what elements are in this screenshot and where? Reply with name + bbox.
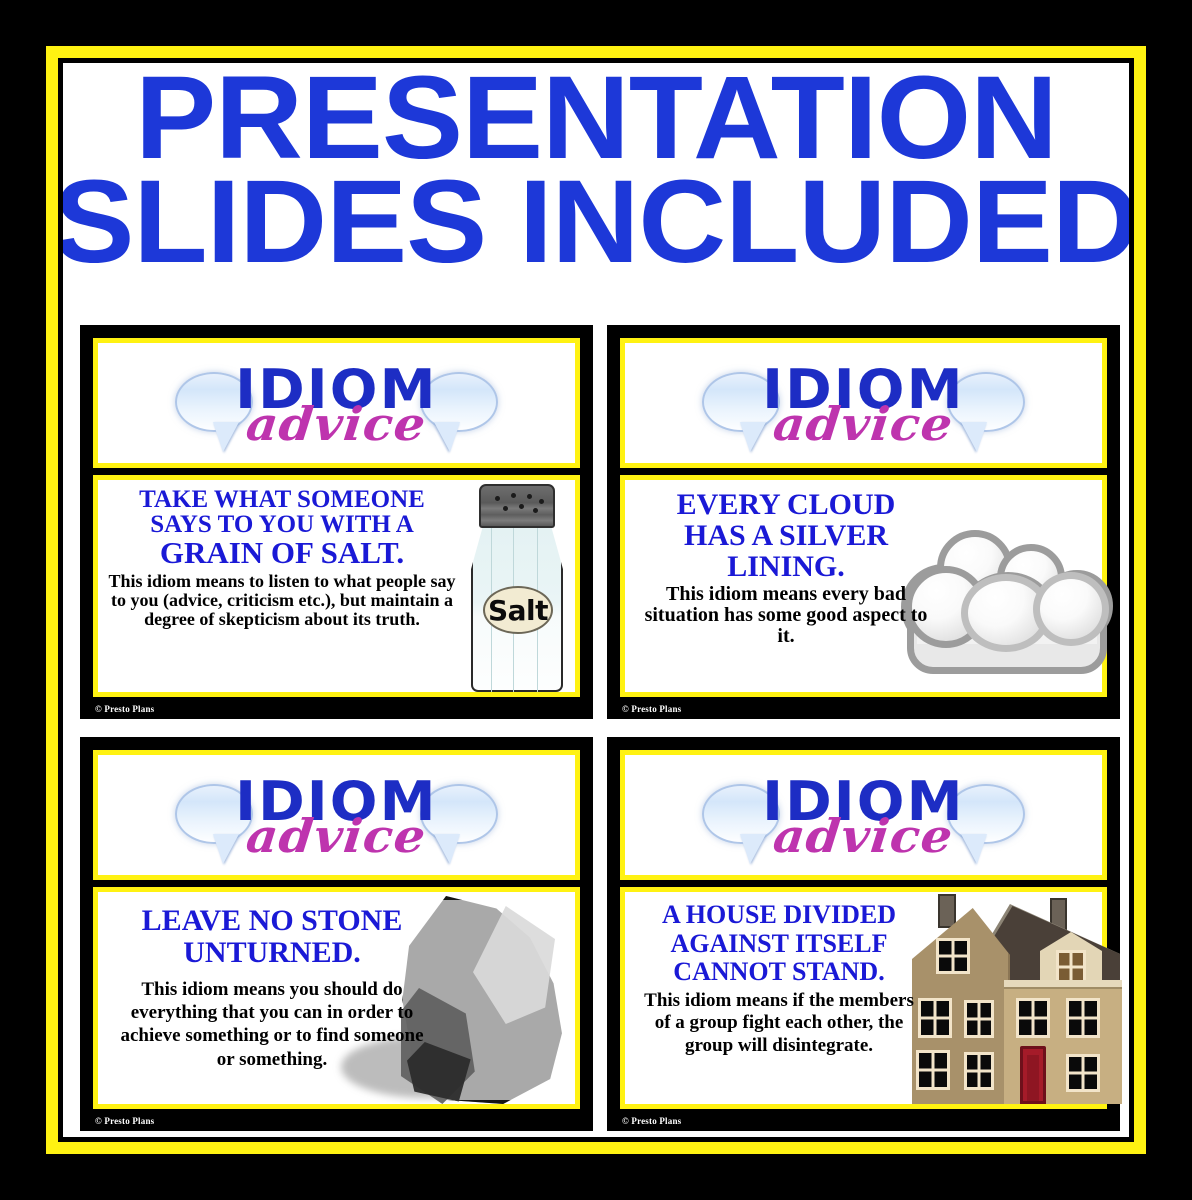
card-text-block: EVERY CLOUD HAS A SILVER LINING. This id… xyxy=(631,480,941,647)
card-body-inner: LEAVE NO STONE UNTURNED. This idiom mean… xyxy=(98,892,575,1104)
card-header-band: IDIOM advice xyxy=(620,750,1107,880)
copyright-notice: © Presto Plans xyxy=(95,704,154,714)
card-body-band: LEAVE NO STONE UNTURNED. This idiom mean… xyxy=(93,887,580,1109)
slide-card-house-divided[interactable]: IDIOM advice xyxy=(607,737,1120,1131)
page-title: PRESENTATION SLIDES INCLUDED xyxy=(63,63,1129,275)
card-header-band: IDIOM advice xyxy=(620,338,1107,468)
idiom-line-1: TAKE WHAT SOMEONE xyxy=(139,486,425,513)
logo-wordmark: IDIOM advice xyxy=(766,777,961,852)
idiom-phrase: EVERY CLOUD HAS A SILVER LINING. xyxy=(639,489,933,583)
idiom-meaning: This idiom means if the members of a gro… xyxy=(637,990,921,1057)
salt-label-text: Salt xyxy=(488,594,548,627)
logo-wordmark: IDIOM advice xyxy=(766,365,961,440)
idiom-phrase: LEAVE NO STONE UNTURNED. xyxy=(110,905,434,968)
card-body-inner: A HOUSE DIVIDED AGAINST ITSELF CANNOT ST… xyxy=(625,892,1102,1104)
card-header-inner: IDIOM advice xyxy=(625,343,1102,463)
salt-shaker-cap xyxy=(479,484,555,528)
slide-card-grain-of-salt[interactable]: IDIOM advice xyxy=(80,325,593,719)
card-body-band: EVERY CLOUD HAS A SILVER LINING. This id… xyxy=(620,475,1107,697)
white-page: PRESENTATION SLIDES INCLUDED xyxy=(63,63,1129,1137)
idiom-meaning: This idiom means every bad situation has… xyxy=(639,584,933,648)
headline-line-2: SLIDES INCLUDED xyxy=(63,171,1129,275)
card-header-band: IDIOM advice xyxy=(93,338,580,468)
slide-card-leave-no-stone-unturned[interactable]: IDIOM advice xyxy=(80,737,593,1131)
logo-advice-text: advice xyxy=(759,820,969,853)
logo-wordmark: IDIOM advice xyxy=(239,777,434,852)
logo-wordmark: IDIOM advice xyxy=(239,365,434,440)
logo-advice-text: advice xyxy=(232,820,442,853)
copyright-notice: © Presto Plans xyxy=(95,1116,154,1126)
copyright-notice: © Presto Plans xyxy=(622,704,681,714)
salt-shaker-icon: Salt xyxy=(465,482,569,694)
card-body-inner: EVERY CLOUD HAS A SILVER LINING. This id… xyxy=(625,480,1102,692)
logo-advice-text: advice xyxy=(759,408,969,441)
idiom-line-1: LEAVE NO STONE xyxy=(142,904,403,937)
card-body-band: A HOUSE DIVIDED AGAINST ITSELF CANNOT ST… xyxy=(620,887,1107,1109)
yellow-border-frame: PRESENTATION SLIDES INCLUDED xyxy=(46,46,1146,1154)
idiom-advice-logo: IDIOM advice xyxy=(98,343,575,463)
card-header-inner: IDIOM advice xyxy=(98,755,575,875)
card-body-band: TAKE WHAT SOMEONE SAYS TO YOU WITH A GRA… xyxy=(93,475,580,697)
logo-advice-text: advice xyxy=(232,408,442,441)
idiom-line-2: HAS A SILVER xyxy=(684,519,888,552)
idiom-line-1: EVERY CLOUD xyxy=(677,488,896,521)
idiom-line-2: UNTURNED. xyxy=(183,936,361,969)
idiom-phrase: A HOUSE DIVIDED AGAINST ITSELF CANNOT ST… xyxy=(637,901,921,987)
idiom-emphasis: GRAIN OF SALT. xyxy=(160,535,404,570)
card-header-band: IDIOM advice xyxy=(93,750,580,880)
idiom-line-3: CANNOT STAND. xyxy=(673,957,884,986)
idiom-line-2: AGAINST ITSELF xyxy=(671,929,888,958)
idiom-line-1: A HOUSE DIVIDED xyxy=(662,900,896,929)
idiom-meaning: This idiom means to listen to what peopl… xyxy=(106,572,458,629)
idiom-line-3: LINING. xyxy=(727,550,845,583)
slide-card-silver-lining[interactable]: IDIOM advice xyxy=(607,325,1120,719)
idiom-line-2: SAYS TO YOU WITH A xyxy=(150,511,414,538)
card-header-inner: IDIOM advice xyxy=(625,755,1102,875)
card-text-block: LEAVE NO STONE UNTURNED. This idiom mean… xyxy=(102,892,442,1071)
house-trim-band xyxy=(1004,980,1122,989)
copyright-notice: © Presto Plans xyxy=(622,1116,681,1126)
slide-card-grid: IDIOM advice xyxy=(80,325,1120,1131)
idiom-advice-logo: IDIOM advice xyxy=(625,755,1102,875)
idiom-advice-logo: IDIOM advice xyxy=(98,755,575,875)
poster-root: PRESENTATION SLIDES INCLUDED xyxy=(0,0,1192,1200)
black-border-frame: PRESENTATION SLIDES INCLUDED xyxy=(58,58,1134,1142)
card-body-inner: TAKE WHAT SOMEONE SAYS TO YOU WITH A GRA… xyxy=(98,480,575,692)
card-text-block: A HOUSE DIVIDED AGAINST ITSELF CANNOT ST… xyxy=(629,892,929,1057)
idiom-advice-logo: IDIOM advice xyxy=(625,343,1102,463)
salt-label: Salt xyxy=(483,586,553,634)
card-header-inner: IDIOM advice xyxy=(98,343,575,463)
card-text-block: TAKE WHAT SOMEONE SAYS TO YOU WITH A GRA… xyxy=(98,480,466,629)
house-icon xyxy=(900,888,1118,1104)
idiom-meaning: This idiom means you should do everythin… xyxy=(110,978,434,1071)
idiom-phrase: TAKE WHAT SOMEONE SAYS TO YOU WITH A GRA… xyxy=(106,487,458,568)
